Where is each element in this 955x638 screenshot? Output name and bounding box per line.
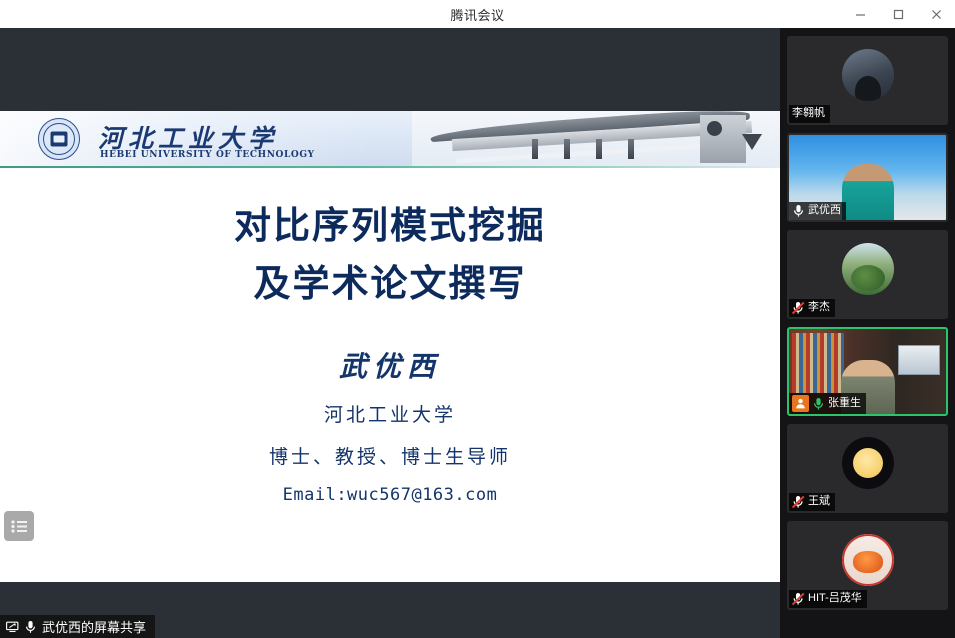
avatar xyxy=(842,437,894,489)
participant-name: 张重生 xyxy=(828,397,861,411)
participant-name: 李翱帆 xyxy=(792,107,825,121)
tencent-meeting-window: 腾讯会议 xyxy=(0,0,955,638)
screen-share-icon xyxy=(6,620,19,634)
maximize-button[interactable] xyxy=(879,0,917,28)
slide-title-line1: 对比序列模式挖掘 xyxy=(0,197,780,255)
person-icon xyxy=(795,398,806,409)
avatar xyxy=(842,49,894,101)
participant-nameplate: HIT-吕茂华 xyxy=(789,590,867,608)
screen-share-status-text: 武优西的屏幕共享 xyxy=(42,617,146,636)
participant-tile[interactable]: 张重生 xyxy=(787,327,948,416)
participant-nameplate: 王斌 xyxy=(789,493,835,511)
microphone-muted-icon xyxy=(792,495,805,509)
slide-presenter-name: 武优西 xyxy=(0,345,780,385)
participant-name: HIT-吕茂华 xyxy=(808,592,862,606)
participant-tile[interactable]: HIT-吕茂华 xyxy=(787,521,948,610)
title-bar: 腾讯会议 xyxy=(0,0,955,28)
host-badge xyxy=(792,395,809,412)
participant-tile[interactable]: 李杰 xyxy=(787,230,948,319)
slide-academic-titles: 博士、教授、博士生导师 xyxy=(0,442,780,469)
slide-banner: 河北工业大学 HEBEI UNIVERSITY OF TECHNOLOGY xyxy=(0,111,780,168)
microphone-on-icon xyxy=(812,397,825,411)
university-seal-logo xyxy=(38,118,80,160)
screen-share-status-bar: 武优西的屏幕共享 xyxy=(0,615,155,638)
participant-nameplate: 武优西 xyxy=(789,202,846,220)
university-name-en: HEBEI UNIVERSITY OF TECHNOLOGY xyxy=(100,150,315,160)
avatar xyxy=(842,534,894,586)
slide-body: 对比序列模式挖掘 及学术论文撰写 武优西 河北工业大学 博士、教授、博士生导师 … xyxy=(0,168,780,505)
presentation-slide: 河北工业大学 HEBEI UNIVERSITY OF TECHNOLOGY 对比… xyxy=(0,111,780,582)
participant-name: 王斌 xyxy=(808,495,830,509)
minimize-button[interactable] xyxy=(841,0,879,28)
microphone-muted-icon xyxy=(792,301,805,315)
participant-nameplate: 李翱帆 xyxy=(789,105,830,123)
participant-name: 武优西 xyxy=(808,204,841,218)
participant-nameplate: 李杰 xyxy=(789,299,835,317)
participant-tile[interactable]: 王斌 xyxy=(787,424,948,513)
avatar xyxy=(842,243,894,295)
microphone-on-icon xyxy=(792,204,805,218)
slide-email: Email:wuc567@163.com xyxy=(0,485,780,505)
slide-title: 对比序列模式挖掘 及学术论文撰写 xyxy=(0,197,780,313)
slide-affiliation: 河北工业大学 xyxy=(0,400,780,427)
participant-list-toggle-button[interactable] xyxy=(4,511,34,541)
microphone-muted-icon xyxy=(792,592,805,606)
list-icon xyxy=(11,520,28,533)
shared-screen-stage[interactable]: 河北工业大学 HEBEI UNIVERSITY OF TECHNOLOGY 对比… xyxy=(0,28,780,638)
close-button[interactable] xyxy=(917,0,955,28)
participant-tile[interactable]: 李翱帆 xyxy=(787,36,948,125)
microphone-icon xyxy=(24,620,37,634)
participant-tile[interactable]: 武优西 xyxy=(787,133,948,222)
window-title: 腾讯会议 xyxy=(450,5,504,24)
slide-title-line2: 及学术论文撰写 xyxy=(0,255,780,313)
participant-name: 李杰 xyxy=(808,301,830,315)
participants-panel[interactable]: 李翱帆武优西李杰张重生王斌HIT-吕茂华 xyxy=(780,28,955,638)
participant-nameplate: 张重生 xyxy=(789,393,866,414)
window-controls xyxy=(841,0,955,28)
